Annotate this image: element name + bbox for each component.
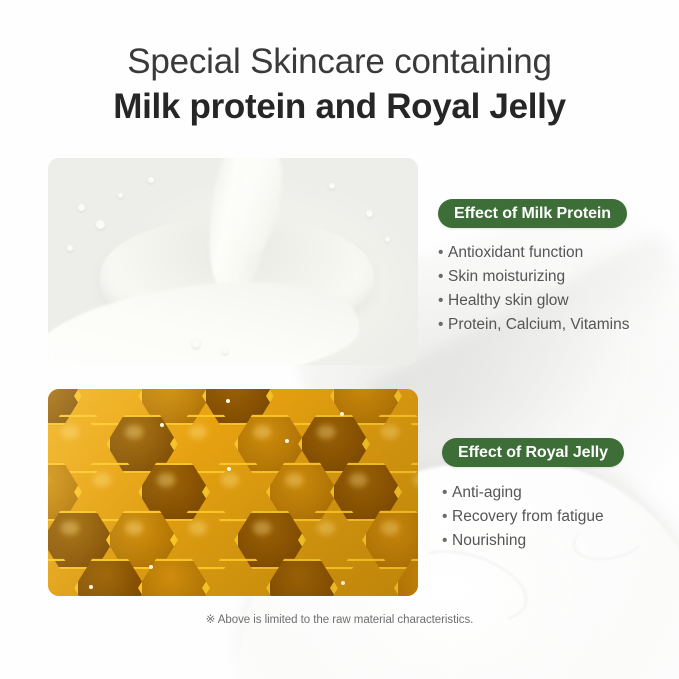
list-item: •Nourishing	[442, 529, 604, 553]
bullet-dot-icon: •	[438, 265, 448, 289]
list-item: •Healthy skin glow	[438, 289, 629, 313]
honey-highlight-dot	[285, 439, 289, 443]
milk-photo	[48, 158, 418, 365]
list-item-label: Antioxidant function	[448, 244, 583, 261]
bullet-dot-icon: •	[438, 241, 448, 265]
title-line-2: Milk protein and Royal Jelly	[0, 85, 679, 129]
bullet-dot-icon: •	[442, 481, 452, 505]
badge-effect-of-milk-protein: Effect of Milk Protein	[438, 199, 627, 228]
honey-highlight-dot	[341, 581, 345, 585]
honey-highlight-dot	[340, 412, 344, 416]
list-item: •Skin moisturizing	[438, 265, 629, 289]
bullet-dot-icon: •	[442, 529, 452, 553]
bullet-dot-icon: •	[438, 289, 448, 313]
list-item-label: Nourishing	[452, 532, 526, 549]
honey-highlight-dot	[149, 565, 153, 569]
milk-image-card	[48, 158, 418, 365]
list-item-label: Recovery from fatigue	[452, 508, 604, 525]
title-line-1: Special Skincare containing	[0, 40, 679, 84]
list-item: •Protein, Calcium, Vitamins	[438, 313, 629, 337]
honeycomb-image-card	[48, 389, 418, 596]
honey-highlight-dot	[227, 467, 231, 471]
honey-highlight-dot	[160, 423, 164, 427]
milk-droplet	[67, 245, 73, 251]
bullet-dot-icon: •	[438, 313, 448, 337]
footnote-disclaimer: ※ Above is limited to the raw material c…	[0, 612, 679, 626]
milk-droplet	[366, 210, 373, 217]
milk-droplet	[78, 204, 85, 211]
list-item-label: Skin moisturizing	[448, 268, 565, 285]
list-item: •Anti-aging	[442, 481, 604, 505]
promo-banner: Special Skincare containing Milk protein…	[0, 0, 679, 679]
list-item-label: Anti-aging	[452, 484, 522, 501]
badge-effect-of-royal-jelly: Effect of Royal Jelly	[442, 438, 624, 467]
honey-highlight-dot	[226, 399, 230, 403]
royal-jelly-benefit-list: •Anti-aging •Recovery from fatigue •Nour…	[442, 481, 604, 553]
bullet-dot-icon: •	[442, 505, 452, 529]
list-item: •Recovery from fatigue	[442, 505, 604, 529]
honeycomb-cell-grid	[48, 389, 418, 596]
list-item-label: Protein, Calcium, Vitamins	[448, 316, 629, 333]
milk-droplet	[385, 237, 390, 242]
milk-protein-benefit-list: •Antioxidant function •Skin moisturizing…	[438, 241, 629, 337]
list-item: •Antioxidant function	[438, 241, 629, 265]
list-item-label: Healthy skin glow	[448, 292, 569, 309]
milk-droplet	[148, 177, 154, 183]
page-title: Special Skincare containing Milk protein…	[0, 40, 679, 129]
honey-highlight-dot	[89, 585, 93, 589]
milk-droplet	[96, 220, 105, 229]
milk-droplet	[329, 183, 335, 189]
milk-droplet	[118, 193, 123, 198]
